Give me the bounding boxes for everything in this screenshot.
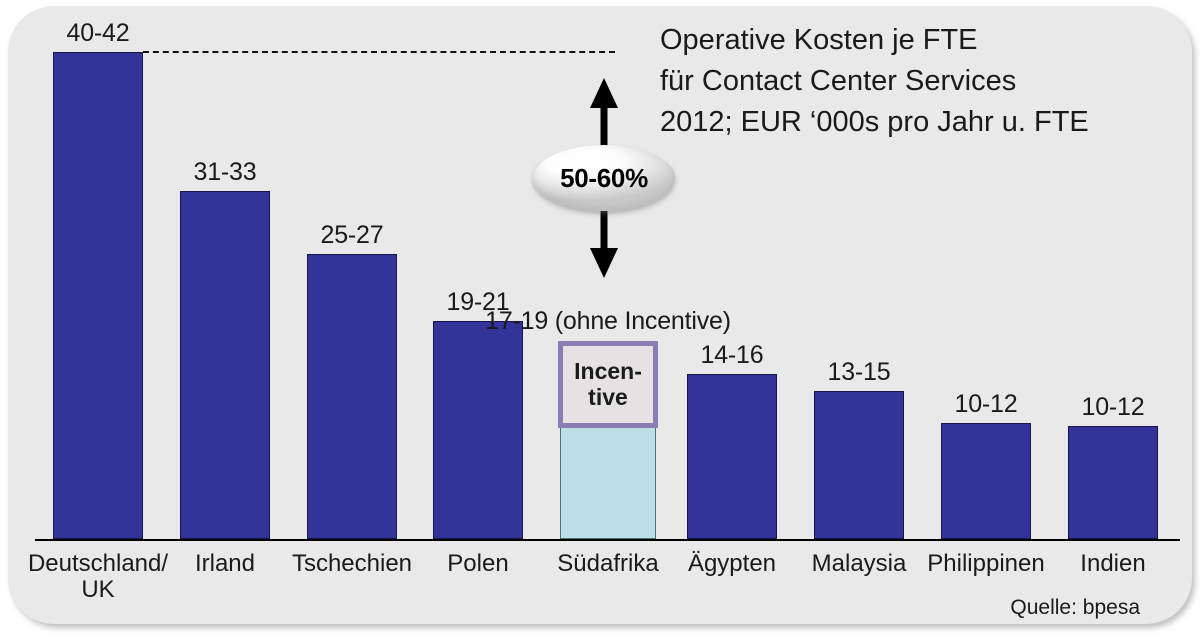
bar-value-label-deutschland-uk: 40-42 (23, 19, 173, 48)
bar-value-label-malaysia: 13-15 (784, 358, 934, 387)
bar-indien (1068, 426, 1158, 539)
bar-value-label-irland: 31-33 (150, 158, 300, 187)
chart-title-block: Operative Kosten je FTE für Contact Cent… (660, 20, 1190, 144)
bar-value-label-suedafrika: 17-19 (ohne Incentive) (470, 307, 746, 336)
bar-malaysia (814, 391, 904, 539)
title-line-3: 2012; EUR ‘000s pro Jahr u. FTE (660, 102, 1190, 143)
title-line-2: für Contact Center Services (660, 61, 1190, 102)
bar-value-label-indien: 10-12 (1038, 393, 1188, 422)
source-note: Quelle: bpesa (1010, 596, 1140, 620)
percent-badge: 50-60% (533, 145, 675, 211)
chart-root: 40-42Deutschland/ UK31-33Irland25-27Tsch… (0, 0, 1200, 643)
percent-badge-label: 50-60% (560, 163, 648, 194)
incentive-box: Incen- tive (558, 341, 658, 428)
reference-line-dashed (143, 51, 615, 53)
category-label-indien: Indien (1033, 551, 1193, 577)
savings-callout: 50-60% (519, 78, 689, 278)
bar-aegypten (687, 374, 777, 539)
x-axis-line (35, 539, 1180, 541)
bar-irland (180, 191, 270, 539)
title-line-1: Operative Kosten je FTE (660, 20, 1190, 61)
incentive-label: Incen- tive (574, 359, 642, 411)
bar-suedafrika (560, 427, 656, 539)
bar-philippinen (941, 423, 1031, 539)
bar-value-label-tschechien: 25-27 (277, 221, 427, 250)
bar-deutschland-uk (53, 52, 143, 539)
bar-tschechien (307, 254, 397, 539)
bar-polen (433, 321, 523, 539)
